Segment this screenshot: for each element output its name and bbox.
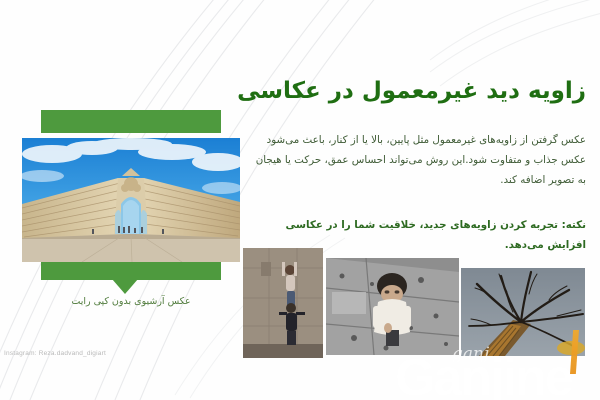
thumb-tree-from-below — [461, 268, 585, 356]
instagram-watermark: Instagram: Reza.dadvand_digiart — [4, 350, 106, 357]
slide-canvas: عکس آرشیوی بدون کپی رایت زاویه دید غیرمع… — [0, 0, 600, 400]
azadi-tower-photo — [22, 138, 240, 262]
thumb-child-from-above — [326, 258, 459, 355]
frame-bar-bottom — [41, 262, 221, 280]
page-title: زاویه دید غیرمعمول در عکاسی — [220, 77, 586, 106]
main-photo-frame — [22, 110, 240, 285]
photo-caption: عکس آرشیوی بدون کپی رایت — [22, 295, 240, 308]
frame-bar-top — [41, 110, 221, 133]
brand-script-watermark: ganj — [452, 346, 489, 363]
body-paragraph: عکس گرفتن از زاویه‌های غیرمعمول مثل پایی… — [250, 130, 586, 190]
thumb-person-on-wall — [243, 248, 323, 358]
frame-arrow-down-icon — [112, 279, 138, 294]
